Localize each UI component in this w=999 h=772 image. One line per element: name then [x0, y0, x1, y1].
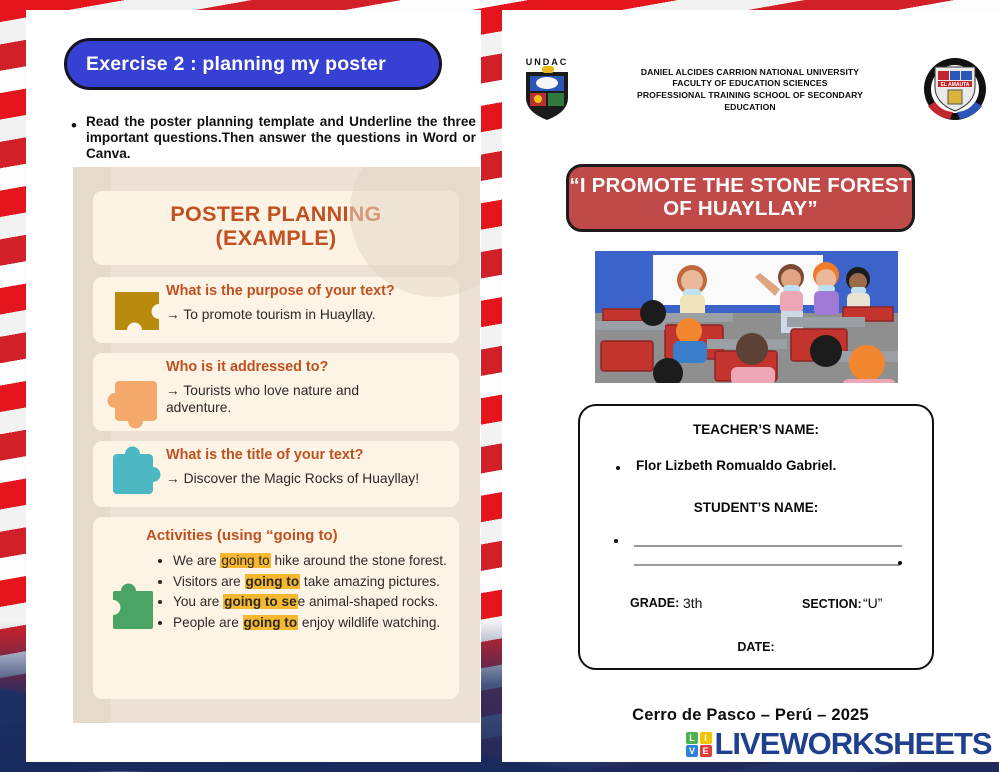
worksheet-page-left: Exercise 2 : planning my poster • Read t… [26, 10, 481, 762]
arrow-right-icon: → [166, 471, 180, 486]
activity-text: People are [173, 615, 243, 630]
bullet-dot-icon [614, 539, 618, 543]
logo-letter-e: E [700, 745, 712, 757]
puzzle-piece-green-icon [105, 583, 159, 635]
activity-text: enjoy wildlife watching. [298, 615, 440, 630]
poster-planning-card: POSTER PLANNING (EXAMPLE) What is the pu… [73, 167, 480, 723]
exercise-banner: Exercise 2 : planning my poster [64, 38, 442, 90]
activity-item: You are going to see animal-shaped rocks… [173, 594, 447, 611]
liveworksheets-wordmark: LIVEWORKSHEETS [715, 730, 992, 759]
footer-location: Cerro de Pasco – Perú – 2025 [502, 706, 999, 725]
activities-list: We are going to hike around the stone fo… [159, 553, 447, 635]
poster-planning-title: POSTER PLANNING (EXAMPLE) [93, 191, 459, 250]
student-name-input-line-2[interactable] [634, 564, 900, 566]
activity-text: e animal-shaped rocks. [298, 594, 439, 609]
student-info-box: TEACHER’S NAME: Flor Lizbeth Romualdo Ga… [578, 404, 934, 670]
exercise-banner-label: Exercise 2 : planning my poster [67, 53, 386, 76]
activities-panel: Activities (using “going to) We are goin… [93, 517, 459, 699]
university-header: UNDAC DANIEL ALCIDES CARRION NATIONAL UN… [516, 54, 984, 126]
question-heading-audience: Who is it addressed to? [166, 359, 328, 375]
student-name-input-line-1[interactable] [634, 545, 902, 547]
bullet-icon: • [71, 114, 86, 161]
activity-text: hike around the stone forest. [271, 553, 447, 568]
logo-letter-v: V [686, 745, 698, 757]
worksheet-page-right: UNDAC DANIEL ALCIDES CARRION NATIONAL UN… [502, 10, 999, 762]
section-label: SECTION: [802, 597, 862, 611]
classroom-illustration [595, 251, 898, 383]
svg-text:EL AMAUTA: EL AMAUTA [941, 82, 970, 88]
el-amauta-crest-icon: EL AMAUTA [922, 54, 984, 126]
activities-heading: Activities (using “going to) [146, 527, 338, 544]
activity-text: take amazing pictures. [300, 574, 440, 589]
question-heading-purpose: What is the purpose of your text? [166, 283, 395, 299]
poster-title-pill: “I PROMOTE THE STONE FOREST OF HUAYLLAY” [566, 164, 915, 232]
question-answer-audience: → Tourists who love nature and adventure… [166, 383, 416, 416]
activity-text: We are [173, 553, 220, 568]
university-name: DANIEL ALCIDES CARRION NATIONAL UNIVERSI… [600, 67, 900, 113]
logo-letter-i: I [700, 732, 712, 744]
question-panel-title: What is the title of your text? → Discov… [93, 441, 459, 507]
poster-title-text: “I PROMOTE THE STONE FOREST OF HUAYLLAY” [569, 175, 912, 221]
section-value[interactable]: “U” [863, 595, 882, 611]
question-answer-title: → Discover the Magic Rocks of Huayllay! [166, 471, 446, 488]
activity-highlight: going to [245, 574, 301, 589]
logo-letter-l: L [686, 732, 698, 744]
question-panel-audience: Who is it addressed to? → Tourists who l… [93, 353, 459, 431]
puzzle-piece-yellow-icon [111, 288, 167, 336]
activity-text: You are [173, 594, 223, 609]
activity-highlight: going to se [223, 594, 298, 609]
grade-label: GRADE: [630, 596, 679, 610]
instruction-text: Read the poster planning template and Un… [86, 114, 476, 161]
activity-item: We are going to hike around the stone fo… [173, 553, 447, 570]
liveworksheets-watermark: L I V E LIVEWORKSHEETS [686, 730, 992, 759]
activity-item: Visitors are going to take amazing pictu… [173, 574, 447, 591]
activity-highlight: going to [243, 615, 299, 630]
activity-highlight: going to [220, 553, 270, 568]
teacher-name-value: Flor Lizbeth Romualdo Gabriel. [636, 458, 836, 473]
question-heading-title: What is the title of your text? [166, 447, 363, 463]
arrow-right-icon: → [166, 383, 180, 398]
question-answer-purpose: → To promote tourism in Huayllay. [166, 307, 446, 324]
svg-text:UNDAC: UNDAC [526, 57, 569, 67]
grade-value[interactable]: 3th [683, 595, 702, 611]
puzzle-piece-teal-icon [107, 444, 165, 500]
student-name-label: STUDENT’S NAME: [580, 500, 932, 515]
activity-text: Visitors are [173, 574, 245, 589]
teacher-name-label: TEACHER’S NAME: [580, 422, 932, 437]
liveworksheets-logo-icon: L I V E [686, 732, 712, 758]
question-panel-purpose: What is the purpose of your text? → To p… [93, 277, 459, 343]
arrow-right-icon: → [166, 307, 180, 322]
date-label: DATE: [580, 640, 932, 654]
bullet-dot-icon [898, 561, 902, 565]
puzzle-piece-orange-icon [107, 377, 165, 429]
bullet-dot-icon [616, 466, 620, 470]
undac-crest-icon: UNDAC [516, 54, 578, 126]
instruction-block: • Read the poster planning template and … [71, 114, 481, 161]
poster-planning-title-panel: POSTER PLANNING (EXAMPLE) [93, 191, 459, 265]
activity-item: People are going to enjoy wildlife watch… [173, 615, 447, 632]
